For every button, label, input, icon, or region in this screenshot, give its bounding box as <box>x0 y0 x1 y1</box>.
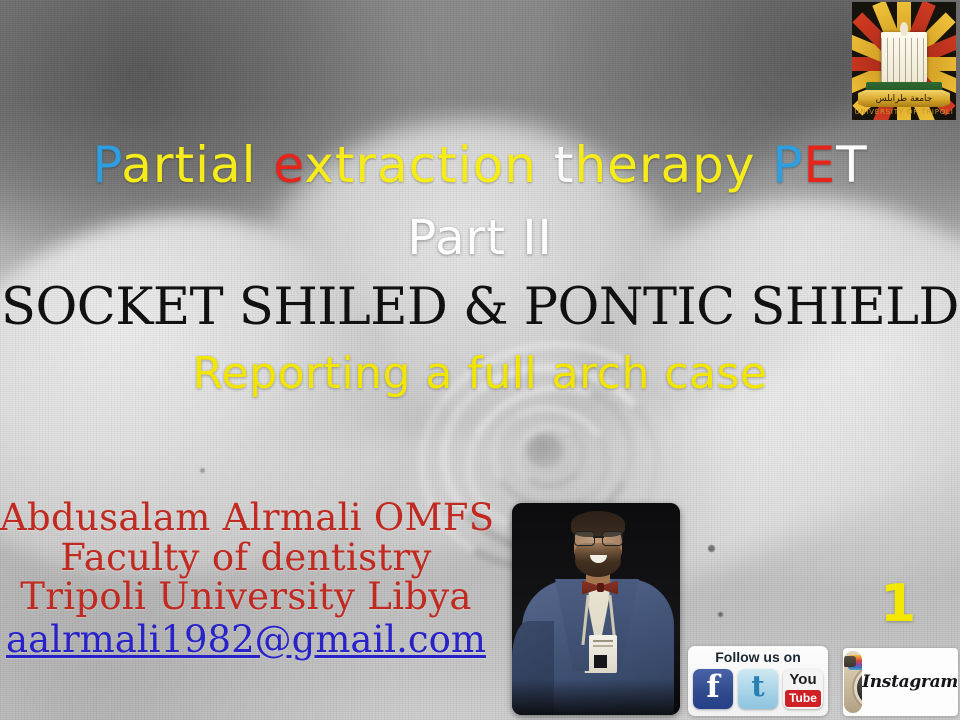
logo-english-name: UNIVERSITY OF TRIPOLI <box>852 108 956 116</box>
instagram-icon[interactable] <box>844 651 862 713</box>
youtube-icon[interactable]: You Tube <box>783 669 823 709</box>
youtube-you-text: You <box>783 669 823 690</box>
title-line-1-part-1: artial <box>121 136 273 194</box>
facebook-glyph: f <box>693 672 733 703</box>
portrait-eyeglasses <box>574 531 623 544</box>
twitter-glyph: t <box>738 672 778 701</box>
logo-book-icon <box>881 32 927 84</box>
instagram-badge[interactable]: Instagram <box>843 648 958 716</box>
facebook-icon[interactable]: f <box>693 669 733 709</box>
bow-tie-right <box>602 579 618 596</box>
twitter-icon[interactable]: t <box>738 669 778 709</box>
author-email-link[interactable]: aalrmali1982@gmail.com <box>6 620 486 660</box>
logo-ribbon: جامعة طرابلس <box>858 90 950 107</box>
university-of-tripoli-logo: جامعة طرابلس UNIVERSITY OF TRIPOLI <box>852 2 956 120</box>
presentation-slide: Partial extraction therapy PET Part II S… <box>0 0 960 720</box>
title-line-1-part-8: T <box>836 136 868 194</box>
logo-flame-icon <box>900 22 908 36</box>
title-line-2: Part II <box>0 214 960 262</box>
portrait-bow-tie <box>582 579 618 596</box>
youtube-tube-text: Tube <box>785 690 821 707</box>
author-institution: Tripoli University Libya <box>0 577 492 617</box>
logo-book-pages <box>881 38 927 84</box>
title-line-1-part-5: herapy <box>574 136 772 194</box>
eyeglass-lens-left <box>574 531 595 546</box>
portrait-conference-badge <box>589 635 617 673</box>
instagram-camera-lens <box>857 670 862 706</box>
badge-text-lines <box>593 640 613 642</box>
title-line-3: SOCKET SHILED & PONTIC SHIELD <box>0 282 960 333</box>
bow-tie-left <box>582 579 598 596</box>
title-line-1: Partial extraction therapy PET <box>0 140 960 190</box>
eyeglass-bridge <box>593 536 604 538</box>
author-faculty: Faculty of dentistry <box>0 538 492 578</box>
badge-qr-code <box>594 655 607 668</box>
author-name: Abdusalam Alrmali OMFS <box>0 498 492 538</box>
author-block: Abdusalam Alrmali OMFS Faculty of dentis… <box>0 498 492 659</box>
eyeglass-lens-right <box>602 531 623 546</box>
title-line-1-part-3: xtraction <box>304 136 554 194</box>
text-layer: Partial extraction therapy PET Part II S… <box>0 0 960 720</box>
follow-us-social-bar: Follow us on f t You Tube <box>688 646 828 716</box>
portrait-bottom-shadow <box>512 679 680 715</box>
title-line-4: Reporting a full arch case <box>0 352 960 396</box>
title-line-1-part-6: P <box>772 136 803 194</box>
slide-number: 1 <box>880 578 916 630</box>
social-icon-row: f t You Tube <box>693 669 823 709</box>
bow-tie-knot <box>597 583 604 592</box>
instagram-viewfinder <box>844 656 856 667</box>
follow-us-label: Follow us on <box>715 649 801 666</box>
title-line-1-part-2: e <box>273 136 304 194</box>
title-line-1-part-0: P <box>92 136 121 194</box>
logo-arabic-name: جامعة طرابلس <box>858 90 950 107</box>
instagram-wordmark: Instagram <box>862 672 958 692</box>
title-line-1-part-7: E <box>803 136 836 194</box>
author-portrait-photo <box>512 503 680 715</box>
title-line-1-part-4: t <box>554 136 575 194</box>
